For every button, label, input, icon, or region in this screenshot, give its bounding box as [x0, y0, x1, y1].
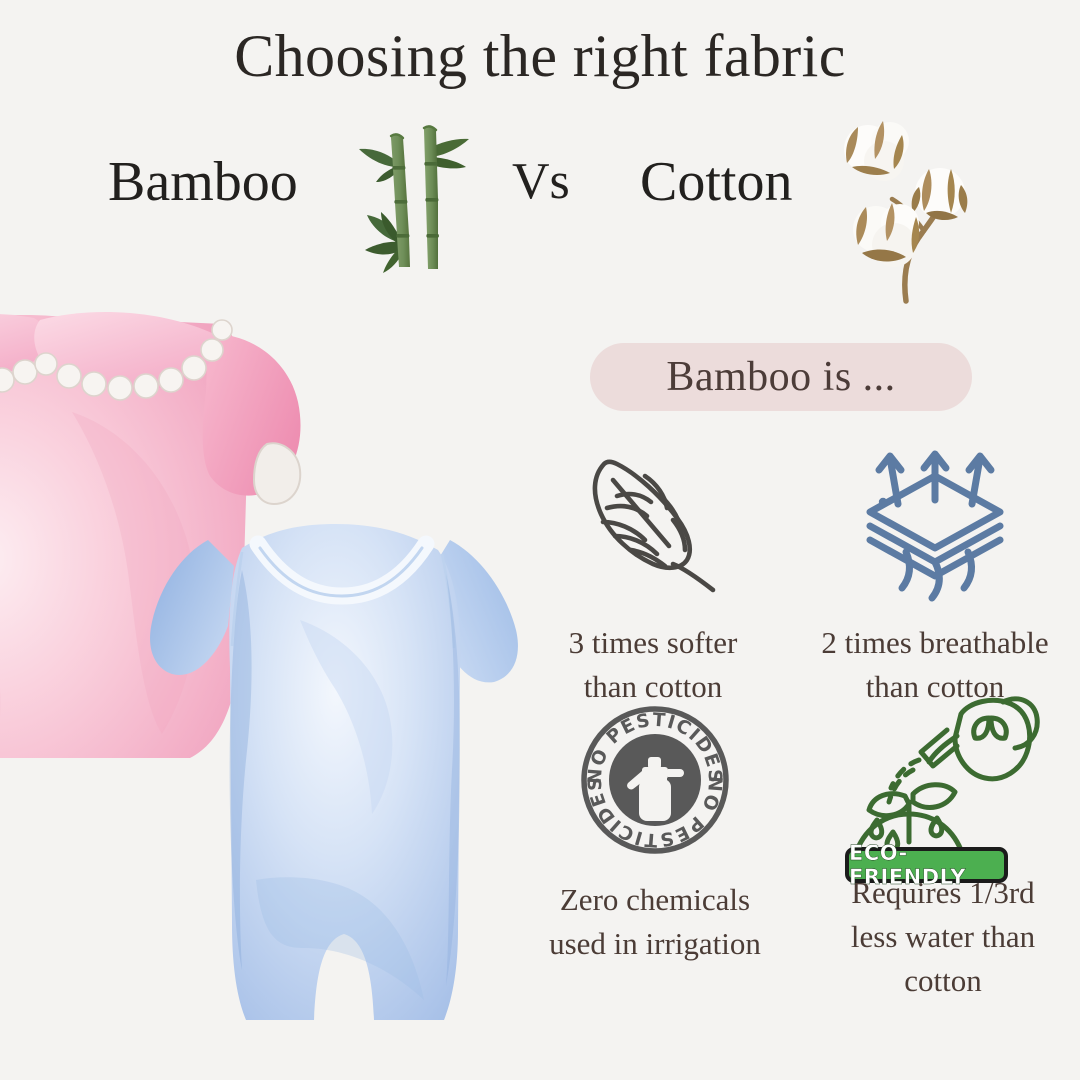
blue-baby-romper-illustration [150, 500, 540, 1060]
breathable-fabric-layers-icon [850, 442, 1020, 607]
benefit-no-chemicals: NO PESTICIDES NO PESTICIDES Zero chemica… [520, 705, 790, 966]
bamboo-is-label: Bamboo is ... [666, 353, 895, 401]
feather-icon [573, 442, 733, 607]
bamboo-is-banner: Bamboo is ... [590, 343, 972, 411]
eco-friendly-badge: ECO-FRIENDLY [845, 847, 1008, 883]
benefit-softness-text: 3 times softer than cotton [569, 621, 738, 709]
cotton-branch-icon [828, 105, 978, 310]
eco-friendly-label: ECO-FRIENDLY [849, 841, 1004, 889]
bamboo-label: Bamboo [108, 150, 298, 214]
cotton-label: Cotton [640, 150, 792, 214]
bamboo-stalks-icon [350, 105, 472, 285]
watering-can-sprout-icon [843, 690, 1043, 865]
benefit-no-chemicals-text: Zero chemicals used in irrigation [549, 878, 761, 966]
benefit-water-saving-text: Requires 1/3rd less water than cotton [851, 871, 1035, 1003]
benefit-breathability: 2 times breathable than cotton [790, 442, 1080, 709]
no-pesticides-badge-icon: NO PESTICIDES NO PESTICIDES [580, 705, 730, 860]
page-title: Choosing the right fabric [0, 22, 1080, 91]
infographic-canvas: Choosing the right fabric Bamboo Vs Cott… [0, 0, 1080, 1080]
benefit-softness: 3 times softer than cotton [523, 442, 783, 709]
versus-label: Vs [512, 152, 570, 211]
